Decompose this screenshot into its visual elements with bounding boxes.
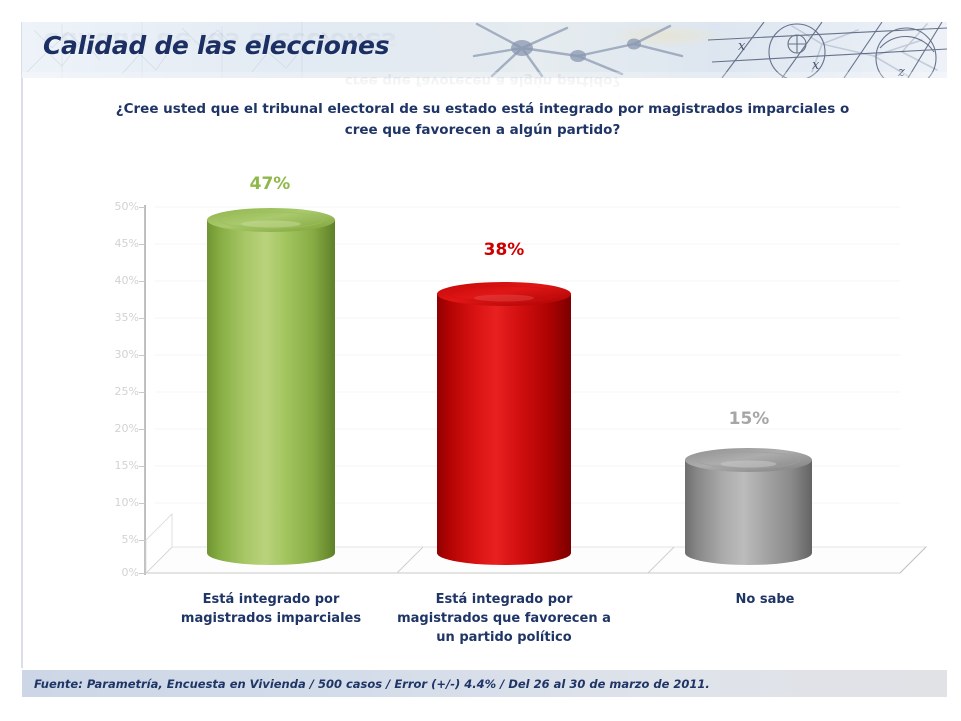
category-label-0: Está integrado por magistrados imparcial… bbox=[155, 590, 387, 628]
category-label-0-line-2: magistrados imparciales bbox=[155, 609, 387, 628]
category-label-2-line-1: No sabe bbox=[662, 590, 868, 609]
bar-chart: 50% 45% 40% 35% 30% 25% 20% 15% 10% 5% 0… bbox=[0, 0, 961, 721]
bar-cylinder-2[interactable] bbox=[685, 448, 812, 565]
bar-cylinder-0[interactable] bbox=[207, 208, 335, 565]
bar-value-label-1: 38% bbox=[449, 240, 559, 260]
bar-value-label-2: 15% bbox=[694, 409, 804, 429]
source-note: Fuente: Parametría, Encuesta en Vivienda… bbox=[34, 677, 710, 691]
bar-value-label-0: 47% bbox=[215, 174, 325, 194]
category-label-1: Está integrado por magistrados que favor… bbox=[391, 590, 617, 647]
category-label-1-line-2: magistrados que favorecen a bbox=[391, 609, 617, 628]
category-label-2: No sabe bbox=[662, 590, 868, 609]
category-label-1-line-1: Está integrado por bbox=[391, 590, 617, 609]
category-label-1-line-3: un partido político bbox=[391, 628, 617, 647]
bar-cylinder-1[interactable] bbox=[437, 282, 571, 565]
category-label-0-line-1: Está integrado por bbox=[155, 590, 387, 609]
slide-canvas: x x z Calidad de las elecciones Calidad … bbox=[0, 0, 961, 721]
